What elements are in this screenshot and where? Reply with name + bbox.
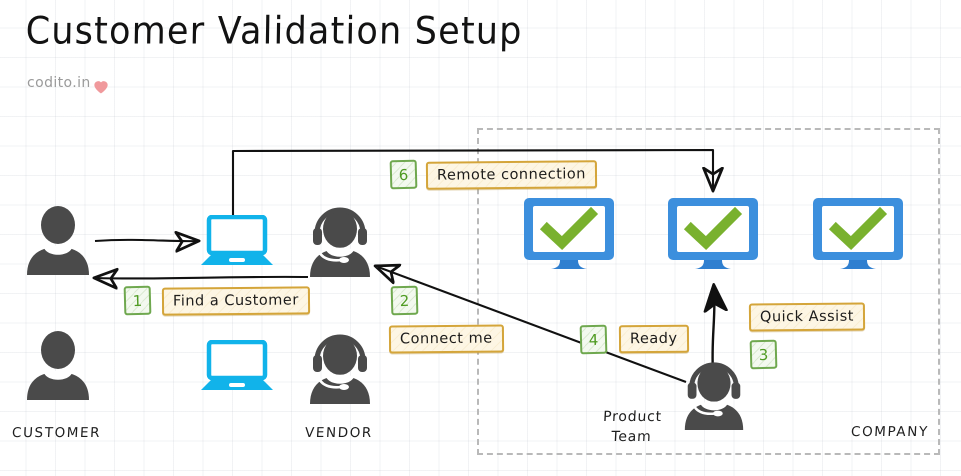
arrow-customer-to-laptop — [95, 240, 196, 241]
callout-quick-assist: Quick Assist — [749, 302, 865, 331]
arrow-vendor-to-customer — [97, 277, 308, 279]
step-badge-2: 2 — [391, 286, 419, 316]
vendor-icon-top — [303, 203, 377, 279]
step-badge-3: 3 — [750, 340, 778, 370]
step-badge-1-number: 1 — [132, 291, 142, 309]
callout-remote-connection: Remote connection — [426, 160, 597, 189]
laptop-icon-top — [199, 215, 275, 268]
monitor-check-icon-2 — [665, 196, 761, 270]
step-badge-4-number: 4 — [588, 330, 598, 348]
customer-label: CUSTOMER — [12, 425, 102, 441]
step-badge-3-number: 3 — [758, 345, 768, 363]
step-badge-2-number: 2 — [399, 291, 409, 309]
customer-icon-top — [22, 205, 94, 277]
product-team-label-line2: Team — [591, 427, 672, 447]
step-badge-1: 1 — [124, 286, 152, 316]
step-badge-6: 6 — [390, 160, 418, 190]
customer-icon-bottom — [22, 330, 94, 402]
callout-ready: Ready — [619, 325, 689, 354]
step-badge-4: 4 — [580, 325, 608, 355]
monitor-check-icon-1 — [521, 196, 617, 270]
laptop-icon-bottom — [199, 340, 275, 393]
diagram-canvas: Customer Validation Setup codito.in COMP… — [0, 0, 961, 476]
callout-connect-me: Connect me — [389, 325, 504, 354]
step-badge-6-number: 6 — [398, 165, 408, 183]
vendor-icon-bottom — [303, 330, 377, 406]
monitor-check-icon-3 — [810, 196, 906, 270]
vendor-label: VENDOR — [305, 425, 374, 441]
product-team-label: Product Team — [591, 407, 673, 447]
callout-find-a-customer: Find a Customer — [162, 286, 310, 315]
product-team-label-line1: Product — [592, 407, 673, 427]
product-team-icon — [678, 358, 750, 432]
